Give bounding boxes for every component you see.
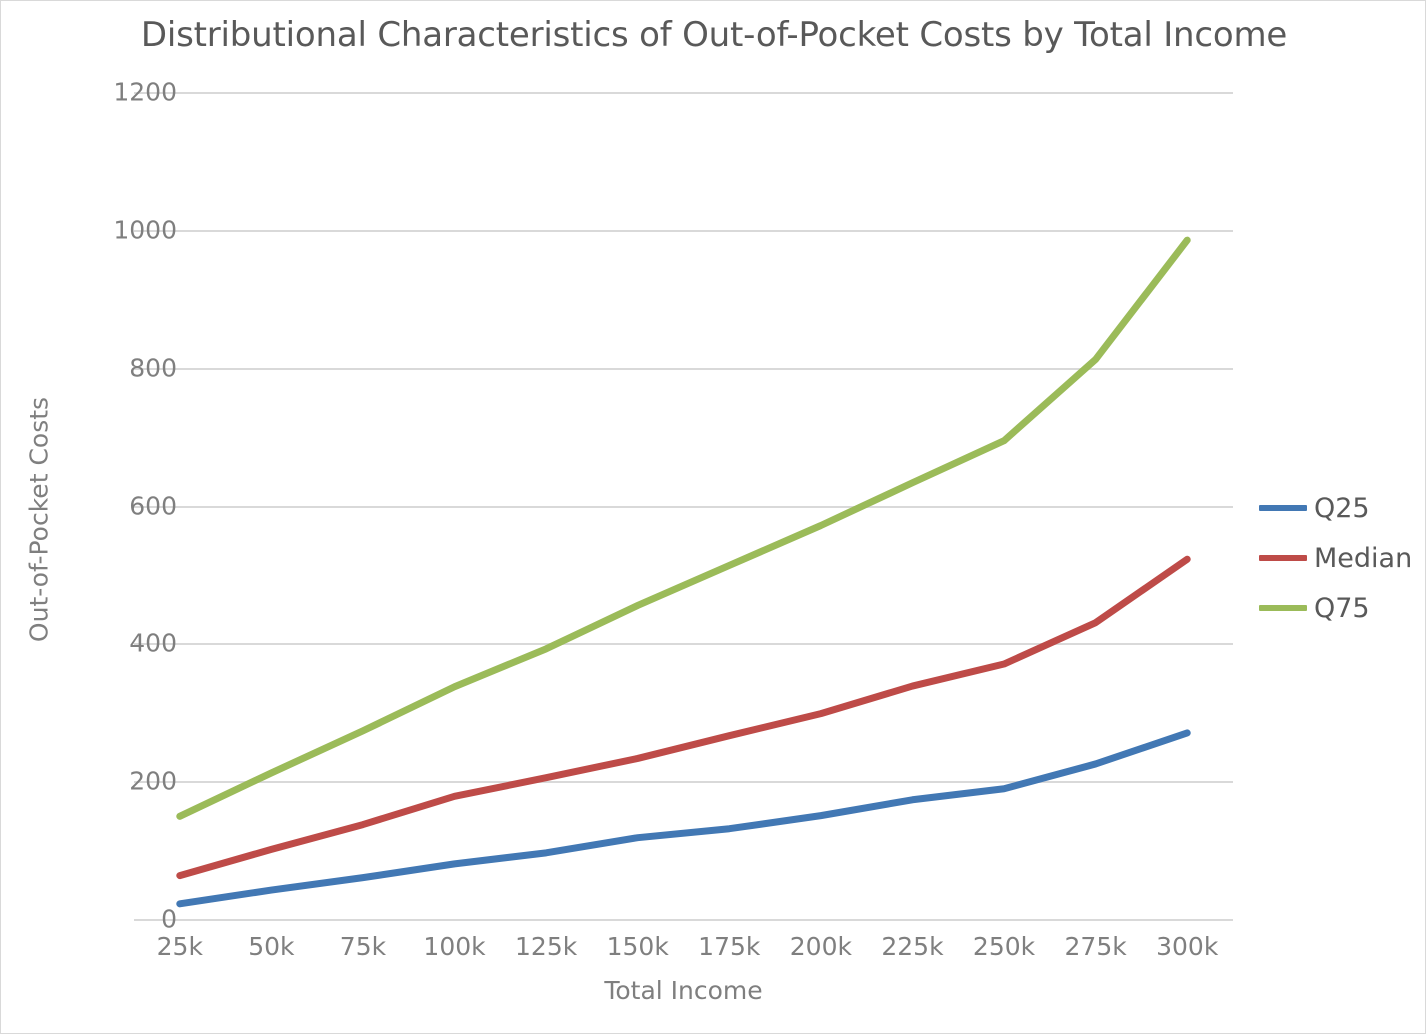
y-axis-tick-label: 1000 [57, 215, 177, 244]
legend-label: Q75 [1314, 595, 1370, 622]
x-axis-tick-label: 175k [698, 932, 760, 961]
x-axis-tick-label: 100k [423, 932, 485, 961]
x-axis-title: Total Income [134, 976, 1233, 1005]
y-axis-title: Out-of-Pocket Costs [25, 260, 54, 780]
x-axis-tick-label: 75k [340, 932, 386, 961]
x-axis-tick-label: 150k [607, 932, 669, 961]
x-axis-tick-label: 200k [790, 932, 852, 961]
chart-container: Distributional Characteristics of Out-of… [0, 0, 1426, 1034]
legend-swatch-q75 [1259, 605, 1307, 611]
chart-title: Distributional Characteristics of Out-of… [1, 15, 1426, 55]
x-axis-tick-label: 225k [881, 932, 943, 961]
x-axis-tick-label: 50k [248, 932, 294, 961]
x-axis-tick-label: 275k [1065, 932, 1127, 961]
legend-label: Median [1314, 545, 1412, 572]
y-axis-tick-label: 0 [57, 905, 177, 934]
y-axis-tick-label: 200 [57, 767, 177, 796]
series-line-q25 [180, 733, 1187, 904]
legend-swatch-q25 [1259, 505, 1307, 511]
y-axis-tick-label: 800 [57, 353, 177, 382]
chart-legend: Q25MedianQ75 [1259, 483, 1419, 633]
gridline [134, 919, 1233, 921]
x-axis-tick-label: 125k [515, 932, 577, 961]
series-line-median [180, 559, 1187, 875]
y-axis-tick-label: 1200 [57, 78, 177, 107]
series-line-q75 [180, 240, 1187, 816]
y-axis-tick-label: 600 [57, 491, 177, 520]
x-axis-tick-label: 300k [1156, 932, 1218, 961]
legend-label: Q25 [1314, 495, 1370, 522]
y-axis-tick-label: 400 [57, 629, 177, 658]
plot-area [134, 92, 1233, 919]
series-lines [134, 92, 1233, 919]
x-axis-tick-label: 25k [157, 932, 203, 961]
legend-swatch-median [1259, 555, 1307, 561]
legend-item-q25[interactable]: Q25 [1259, 483, 1419, 533]
x-axis-tick-label: 250k [973, 932, 1035, 961]
legend-item-q75[interactable]: Q75 [1259, 583, 1419, 633]
legend-item-median[interactable]: Median [1259, 533, 1419, 583]
